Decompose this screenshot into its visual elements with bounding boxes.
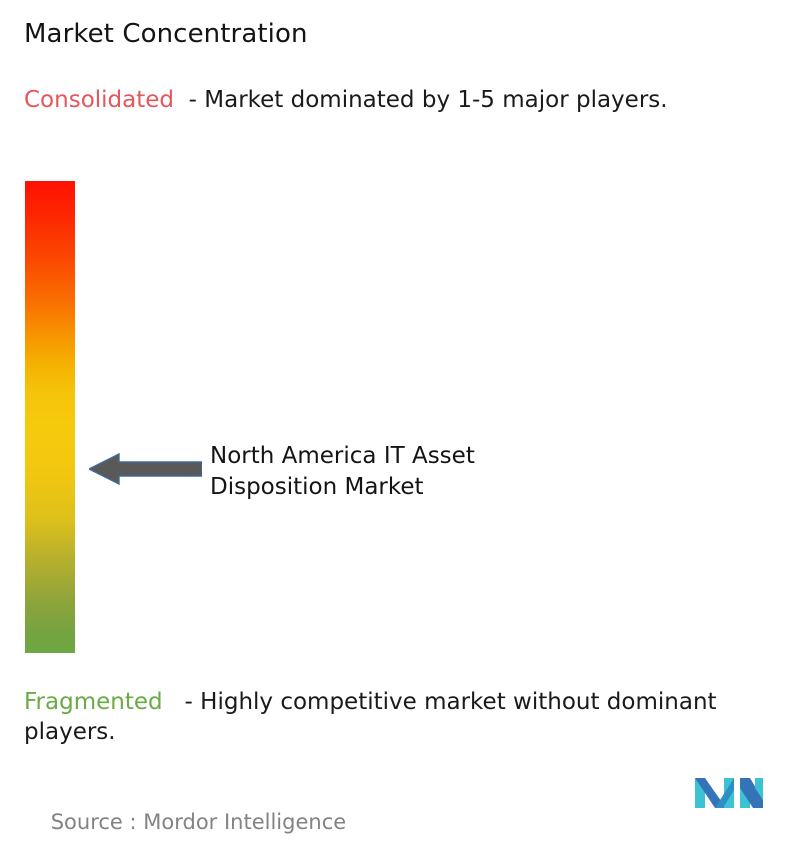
callout-label-line-2: Disposition Market (210, 472, 640, 503)
source-attribution: Source : Mordor Intelligence (24, 783, 346, 861)
concentration-gradient-bar (25, 181, 75, 653)
consolidated-keyword: Consolidated (24, 87, 174, 113)
fragmented-separator: - (163, 689, 201, 715)
callout-label-line-1: North America IT Asset (210, 441, 640, 472)
callout-label: North America IT Asset Disposition Marke… (210, 441, 640, 503)
mordor-intelligence-logo-icon (693, 770, 765, 812)
fragmented-caption: Fragmented - Highly competitive market w… (24, 687, 788, 747)
fragmented-keyword: Fragmented (24, 689, 163, 715)
consolidated-description: Market dominated by 1-5 major players. (204, 87, 667, 113)
source-label: Source : (51, 810, 144, 834)
consolidated-caption: Consolidated - Market dominated by 1-5 m… (24, 85, 776, 115)
page-title: Market Concentration (24, 18, 308, 50)
consolidated-separator: - (174, 87, 204, 113)
market-concentration-chart: Market Concentration Consolidated - Mark… (0, 0, 796, 834)
callout-arrow-icon (89, 452, 202, 486)
source-value: Mordor Intelligence (143, 810, 346, 834)
